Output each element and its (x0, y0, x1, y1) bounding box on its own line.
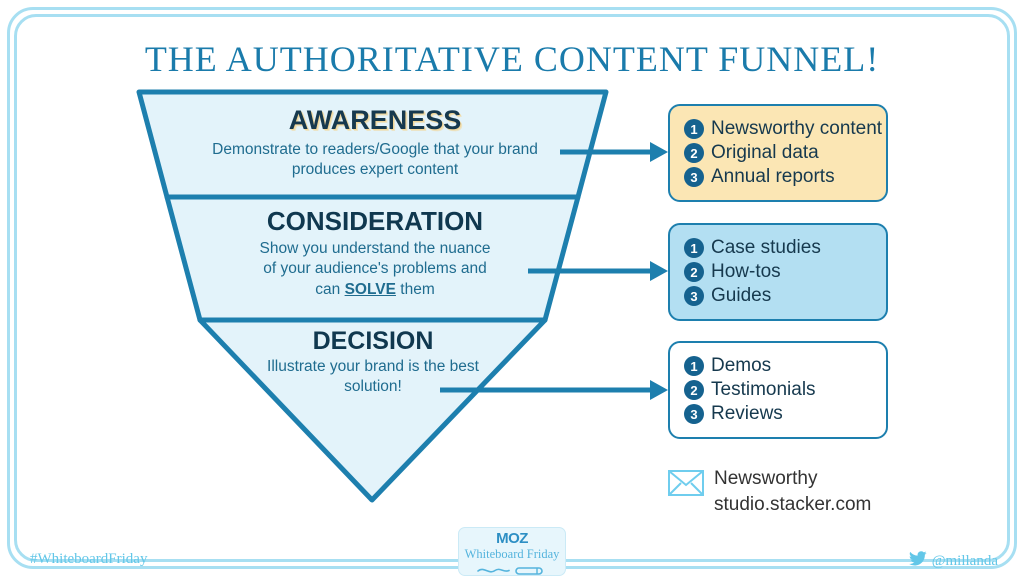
funnel-stage-decision: DECISION Illustrate your brand is the be… (262, 328, 484, 398)
marker-squiggle-icon (459, 563, 565, 581)
stage-description-line-1: Show you understand the nuance (215, 239, 535, 259)
funnel-stage-awareness: AWARENESS Demonstrate to readers/Google … (180, 106, 570, 181)
number-badge-icon: 1 (684, 119, 704, 139)
stage-description-line-2: of your audience's problems and (215, 259, 535, 279)
callout-item-label: Demos (711, 355, 771, 377)
attribution-line-1: Newsworthy (714, 466, 871, 492)
callout-item: 2 How-tos (684, 261, 874, 283)
number-badge-icon: 3 (684, 167, 704, 187)
solve-suffix: them (396, 281, 435, 298)
stage-description-awareness: Demonstrate to readers/Google that your … (180, 140, 570, 180)
number-badge-icon: 2 (684, 143, 704, 163)
callout-item: 2 Original data (684, 142, 874, 164)
callout-item-label: Testimonials (711, 379, 816, 401)
callout-item-label: Case studies (711, 237, 821, 259)
callout-item: 1 Demos (684, 355, 874, 377)
callout-item-label: Guides (711, 285, 771, 307)
number-badge-icon: 2 (684, 380, 704, 400)
number-badge-icon: 2 (684, 262, 704, 282)
stage-description-consideration: Show you understand the nuance of your a… (215, 239, 535, 299)
number-badge-icon: 3 (684, 404, 704, 424)
funnel-stage-consideration: CONSIDERATION Show you understand the nu… (215, 208, 535, 300)
moz-wordmark: MOZ (459, 531, 565, 547)
attribution-text: Newsworthy studio.stacker.com (714, 466, 871, 517)
callout-item: 3 Annual reports (684, 166, 874, 188)
number-badge-icon: 1 (684, 356, 704, 376)
twitter-attribution: @millanda (909, 551, 998, 571)
callout-box-awareness: 1 Newsworthy content 2 Original data 3 A… (668, 104, 888, 202)
stage-title-decision: DECISION (262, 328, 484, 354)
callout-item: 1 Newsworthy content (684, 118, 874, 140)
attribution-line-2: studio.stacker.com (714, 492, 871, 518)
number-badge-icon: 3 (684, 286, 704, 306)
callout-item-label: Original data (711, 142, 819, 164)
twitter-handle-label: @millanda (932, 553, 998, 570)
stage-description-line-3: can SOLVE them (215, 280, 535, 300)
callout-box-decision: 1 Demos 2 Testimonials 3 Reviews (668, 341, 888, 439)
callout-item-label: How-tos (711, 261, 781, 283)
callout-item-label: Reviews (711, 403, 783, 425)
callout-item-label: Newsworthy content (711, 118, 882, 140)
callout-item: 1 Case studies (684, 237, 874, 259)
callout-item: 2 Testimonials (684, 379, 874, 401)
moz-badge-subtitle: Whiteboard Friday (459, 548, 565, 562)
moz-whiteboard-friday-badge: MOZ Whiteboard Friday (458, 527, 566, 576)
callout-item: 3 Guides (684, 285, 874, 307)
stage-description-decision: Illustrate your brand is the best soluti… (262, 357, 484, 397)
hashtag-label: #WhiteboardFriday (30, 551, 147, 568)
stage-title-consideration: CONSIDERATION (215, 208, 535, 235)
twitter-bird-icon (909, 551, 927, 571)
stage-title-awareness: AWARENESS (180, 106, 570, 134)
callout-item-label: Annual reports (711, 166, 835, 188)
envelope-icon (668, 470, 704, 501)
callout-box-consideration: 1 Case studies 2 How-tos 3 Guides (668, 223, 888, 321)
callout-item: 3 Reviews (684, 403, 874, 425)
solve-prefix: can (315, 281, 344, 298)
solve-emphasis: SOLVE (345, 281, 396, 298)
number-badge-icon: 1 (684, 238, 704, 258)
attribution-block: Newsworthy studio.stacker.com (668, 466, 871, 517)
